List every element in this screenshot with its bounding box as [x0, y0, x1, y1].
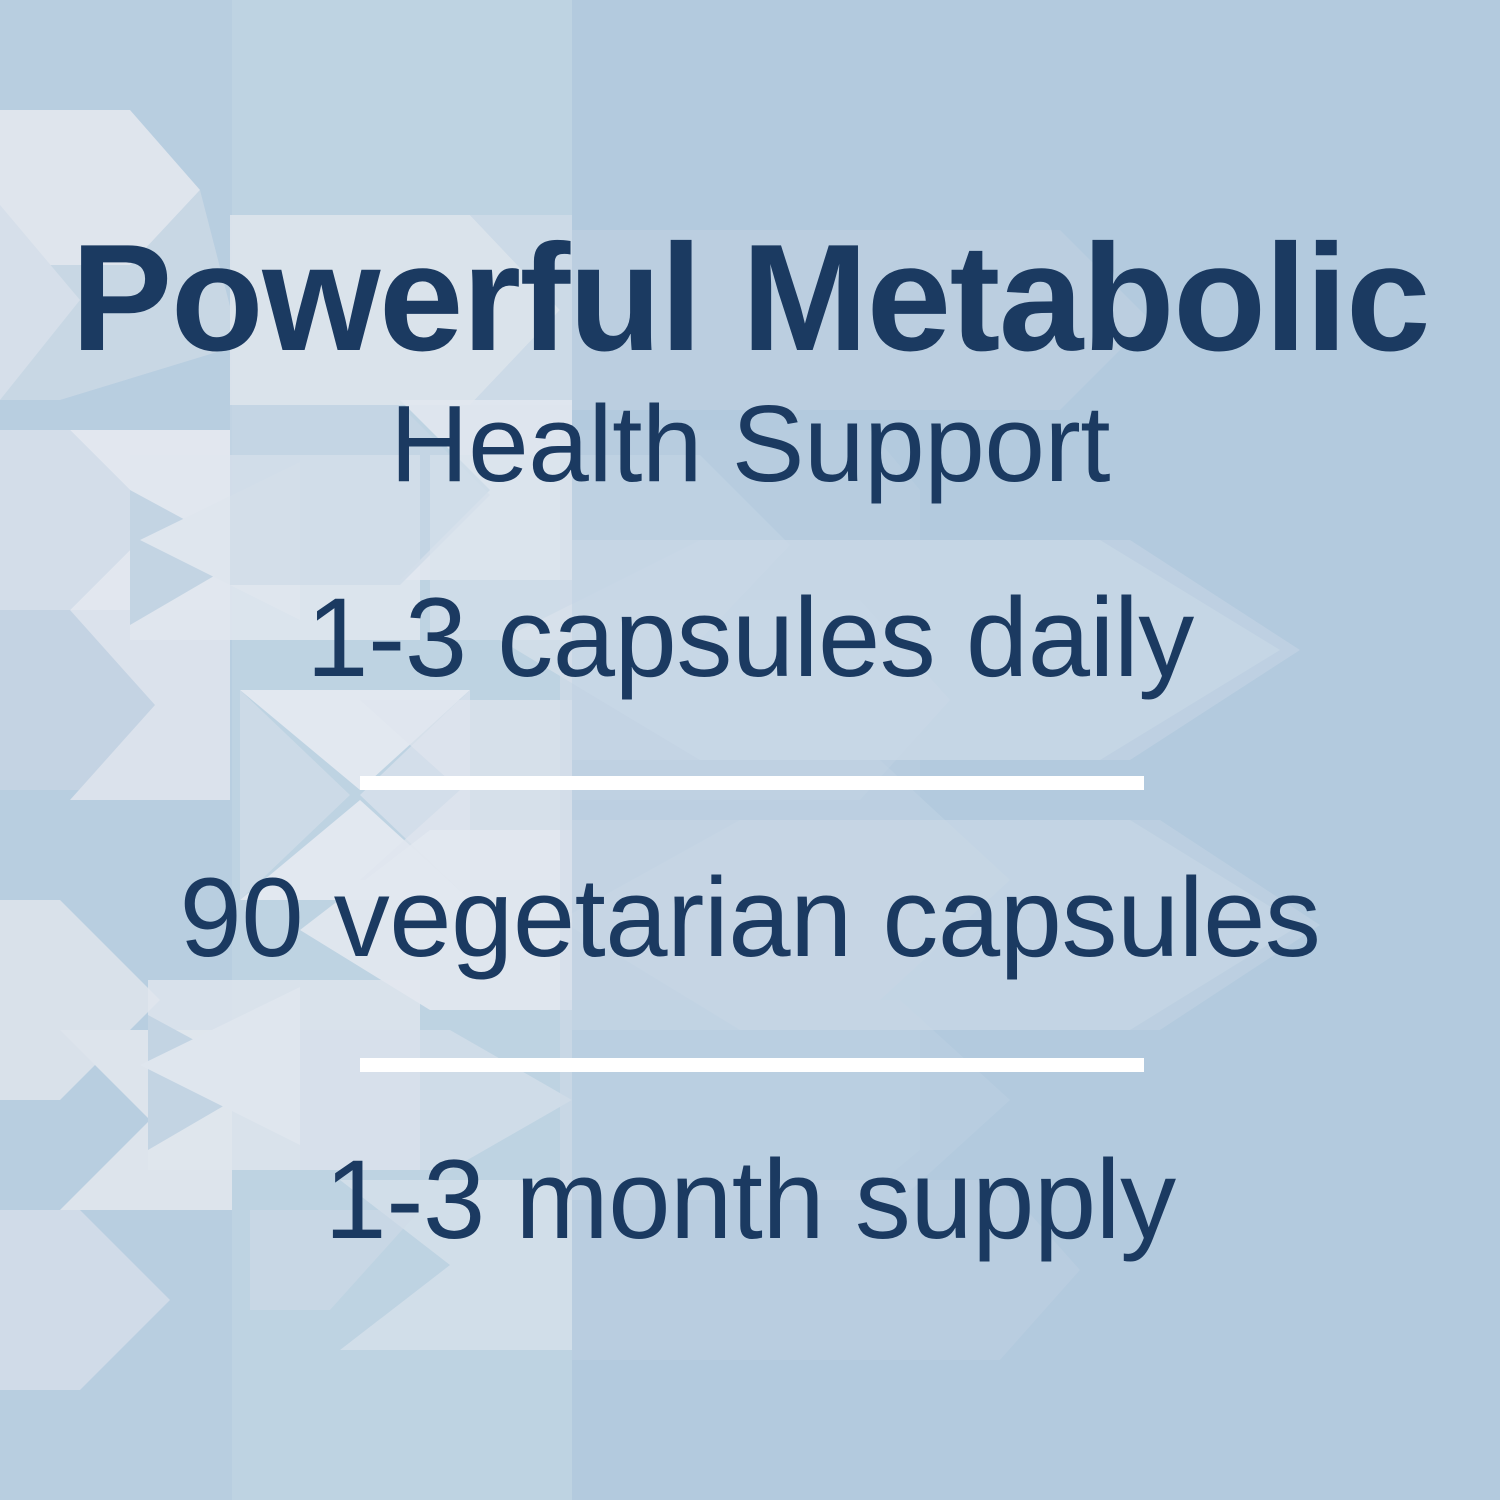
page-title: Powerful Metabolic	[0, 222, 1500, 374]
fact-dosage: 1-3 capsules daily	[0, 582, 1500, 694]
fact-capsule-count: 90 vegetarian capsules	[0, 862, 1500, 974]
divider-above-supply-duration	[360, 1058, 1144, 1072]
page-subtitle: Health Support	[0, 390, 1500, 499]
divider-above-capsule-count	[360, 776, 1144, 790]
fact-supply-duration: 1-3 month supply	[0, 1144, 1500, 1256]
product-feature-card: Powerful Metabolic Health Support 1-3 ca…	[0, 0, 1500, 1500]
